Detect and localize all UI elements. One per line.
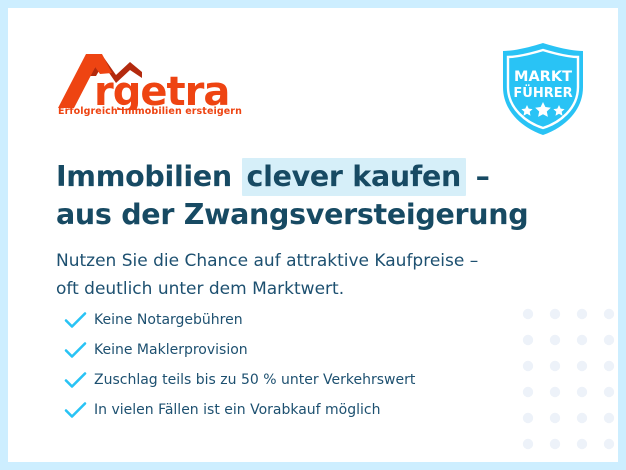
- list-item: In vielen Fällen ist ein Vorabkauf mögli…: [63, 395, 523, 425]
- subtitle-line-2: oft deutlich unter dem Marktwert.: [56, 279, 344, 299]
- headline-line-2: aus der Zwangsversteigerung: [56, 198, 528, 231]
- list-item: Zuschlag teils bis zu 50 % unter Verkehr…: [63, 365, 523, 395]
- logo-lockup: rgetra: [56, 48, 256, 110]
- headline-part-2: –: [466, 160, 490, 193]
- promo-banner: rgetra Erfolgreich Immobilien ersteigern…: [0, 0, 626, 470]
- banner-content-area: rgetra Erfolgreich Immobilien ersteigern…: [8, 8, 618, 462]
- badge-line-1: MARKT: [514, 69, 572, 85]
- dot-grid-decoration: [508, 298, 618, 462]
- list-item-label: Zuschlag teils bis zu 50 % unter Verkehr…: [89, 372, 415, 388]
- list-item-label: Keine Maklerprovision: [89, 342, 248, 358]
- check-icon: [63, 311, 89, 329]
- badge-line-2: FÜHRER: [513, 85, 572, 101]
- subtitle: Nutzen Sie die Chance auf attraktive Kau…: [56, 247, 556, 303]
- logo-tagline: Erfolgreich Immobilien ersteigern: [58, 106, 242, 117]
- argetra-logo[interactable]: rgetra Erfolgreich Immobilien ersteigern: [56, 48, 256, 126]
- headline-highlight: clever kaufen: [242, 158, 466, 196]
- svg-text:rgetra: rgetra: [94, 69, 229, 110]
- check-icon: [63, 371, 89, 389]
- headline-part-1: Immobilien: [56, 160, 242, 193]
- market-leader-badge: MARKT FÜHRER: [497, 41, 589, 137]
- list-item: Keine Notargebühren: [63, 305, 523, 335]
- check-icon: [63, 341, 89, 359]
- logo-mark-icon: rgetra: [56, 48, 256, 110]
- page-title: Immobilien clever kaufen – aus der Zwang…: [56, 158, 556, 234]
- subtitle-line-1: Nutzen Sie die Chance auf attraktive Kau…: [56, 251, 478, 271]
- check-icon: [63, 401, 89, 419]
- list-item-label: In vielen Fällen ist ein Vorabkauf mögli…: [89, 402, 381, 418]
- benefits-list: Keine Notargebühren Keine Maklerprovisio…: [63, 305, 523, 425]
- shield-badge-icon: MARKT FÜHRER: [497, 41, 589, 137]
- list-item-label: Keine Notargebühren: [89, 312, 243, 328]
- list-item: Keine Maklerprovision: [63, 335, 523, 365]
